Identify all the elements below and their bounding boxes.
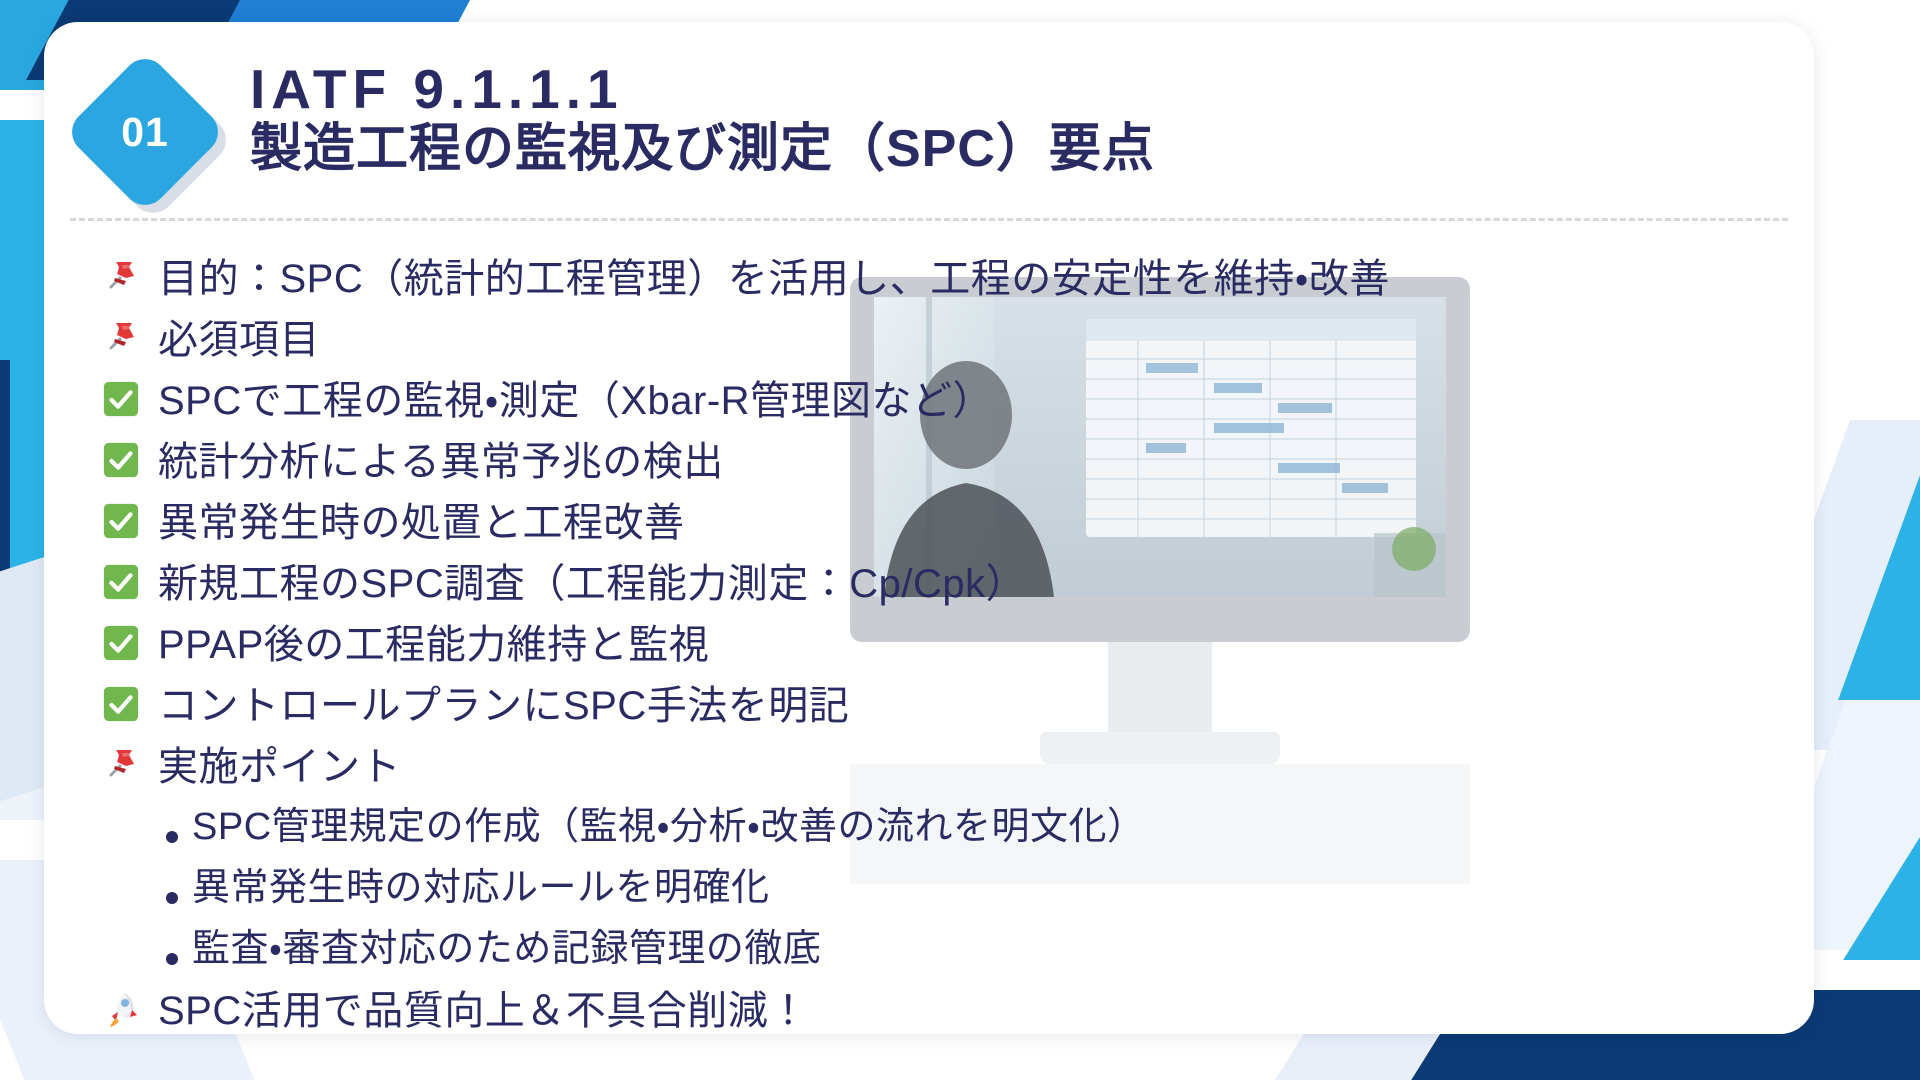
header-divider	[70, 218, 1788, 221]
list-item-text: SPCで工程の監視・測定（Xbar-R管理図など）	[158, 368, 993, 426]
bullet-list: 目的：SPC（統計的工程管理）を活用し、工程の安定性を維持・改善 必須項目 SP…	[44, 222, 1814, 1034]
list-item: SPC管理規定の作成（監視・分析・改善の流れを明文化）	[102, 795, 1814, 856]
list-item-text: 異常発生時の処置と工程改善	[158, 490, 685, 548]
list-item-text: 統計分析による異常予兆の検出	[158, 429, 724, 487]
pushpin-icon	[102, 744, 158, 784]
check-icon	[102, 502, 158, 540]
check-icon	[102, 624, 158, 662]
list-item: 新規工程のSPC調査（工程能力測定：Cp/Cpk）	[102, 551, 1814, 612]
list-item-text: SPC管理規定の作成（監視・分析・改善の流れを明文化）	[192, 795, 1145, 850]
pushpin-icon	[102, 317, 158, 357]
list-item-text: PPAP後の工程能力維持と監視	[158, 612, 709, 670]
list-item: 必須項目	[102, 307, 1814, 368]
rocket-icon	[102, 988, 158, 1028]
title-block: IATF 9.1.1.1 製造工程の監視及び測定（SPC）要点	[250, 60, 1774, 179]
list-item-text: 新規工程のSPC調査（工程能力測定：Cp/Cpk）	[158, 551, 1026, 609]
list-item: コントロールプランにSPC手法を明記	[102, 673, 1814, 734]
slide-card: 01 IATF 9.1.1.1 製造工程の監視及び測定（SPC）要点	[44, 22, 1814, 1034]
check-icon	[102, 685, 158, 723]
list-item-text: SPC活用で品質向上＆不具合削減！	[158, 978, 809, 1034]
bullet-dot-icon	[152, 831, 192, 843]
check-icon	[102, 441, 158, 479]
list-item-text: 異常発生時の対応ルールを明確化	[192, 856, 770, 911]
slide-header: 01 IATF 9.1.1.1 製造工程の監視及び測定（SPC）要点	[44, 22, 1814, 222]
list-item-text: 必須項目	[158, 307, 320, 365]
bullet-dot-icon	[152, 953, 192, 965]
list-item-text: コントロールプランにSPC手法を明記	[158, 673, 849, 731]
list-item: 異常発生時の処置と工程改善	[102, 490, 1814, 551]
page-title: IATF 9.1.1.1	[250, 60, 1774, 118]
list-item: PPAP後の工程能力維持と監視	[102, 612, 1814, 673]
check-icon	[102, 563, 158, 601]
badge-number: 01	[87, 74, 203, 190]
list-item: 監査・審査対応のため記録管理の徹底	[102, 917, 1814, 978]
list-item: 異常発生時の対応ルールを明確化	[102, 856, 1814, 917]
list-item: 実施ポイント	[102, 734, 1814, 795]
list-item-text: 目的：SPC（統計的工程管理）を活用し、工程の安定性を維持・改善	[158, 246, 1390, 304]
bullet-dot-icon	[152, 892, 192, 904]
slide-number-badge: 01	[87, 74, 211, 198]
page-subtitle: 製造工程の監視及び測定（SPC）要点	[250, 120, 1774, 178]
list-item: SPCで工程の監視・測定（Xbar-R管理図など）	[102, 368, 1814, 429]
list-item: SPC活用で品質向上＆不具合削減！	[102, 978, 1814, 1034]
list-item-text: 監査・審査対応のため記録管理の徹底	[192, 917, 821, 972]
list-item: 統計分析による異常予兆の検出	[102, 429, 1814, 490]
pushpin-icon	[102, 256, 158, 296]
check-icon	[102, 380, 158, 418]
list-item-text: 実施ポイント	[158, 734, 401, 792]
list-item: 目的：SPC（統計的工程管理）を活用し、工程の安定性を維持・改善	[102, 246, 1814, 307]
